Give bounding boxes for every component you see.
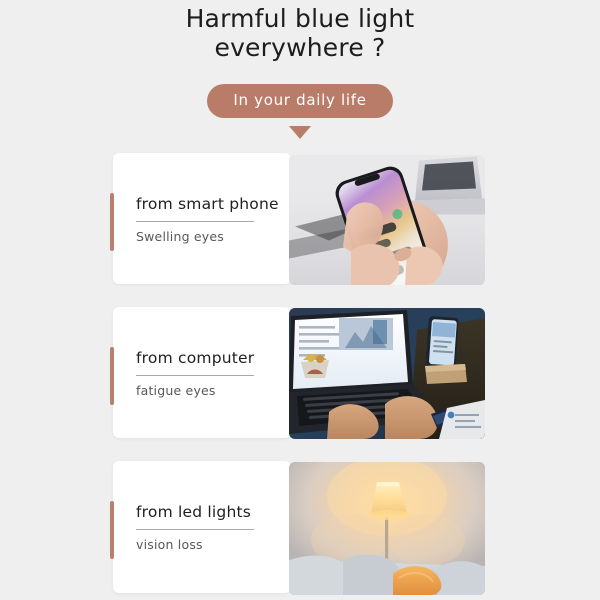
page-title-line-1: Harmful blue light [0,4,600,33]
card-smart-phone[interactable]: from smart phone Swelling eyes [0,153,600,284]
triangle-down-icon [289,126,311,139]
accent-bar [110,347,114,405]
page-title-line-2: everywhere ? [0,33,600,62]
daily-life-badge: In your daily life [207,84,392,118]
card-subtitle: Swelling eyes [136,229,288,245]
accent-bar [110,501,114,559]
card-text-block: from computer fatigue eyes [136,349,288,399]
card-computer[interactable]: from computer fatigue eyes [0,307,600,438]
badge-section: In your daily life [0,84,600,139]
hands-typing-laptop-photo [289,308,485,439]
card-divider [136,221,254,222]
page-title: Harmful blue light everywhere ? [0,4,600,62]
card-subtitle: fatigue eyes [136,383,288,399]
page-header: Harmful blue light everywhere ? [0,0,600,62]
card-text-block: from led lights vision loss [136,503,288,553]
card-title: from led lights [136,503,288,522]
card-subtitle: vision loss [136,537,288,553]
hands-holding-smartphone-photo [289,155,485,285]
card-title: from smart phone [136,195,288,214]
card-divider [136,529,254,530]
glowing-floor-lamp-photo [289,462,485,595]
accent-bar [110,193,114,251]
cards-list: from smart phone Swelling eyes [0,153,600,592]
card-text-block: from smart phone Swelling eyes [136,195,288,245]
card-title: from computer [136,349,288,368]
card-led-lights[interactable]: from led lights vision loss [0,461,600,592]
card-divider [136,375,254,376]
